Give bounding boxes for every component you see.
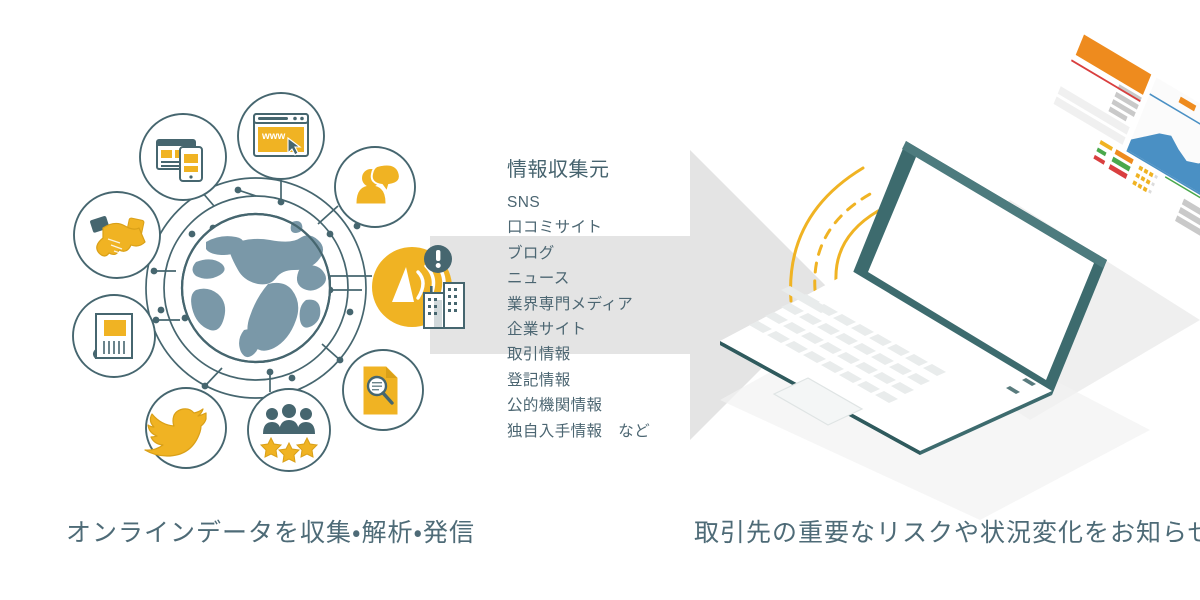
illustration-stage: .ln{stroke:#46666f;stroke-width:1.7;fill… — [0, 0, 1200, 600]
source-list-item-corporate-site: 企業サイト — [507, 317, 697, 342]
source-list-heading: 情報収集元 — [507, 156, 697, 184]
source-list-item-sns: SNS — [507, 190, 697, 215]
dashboard-screen — [1034, 28, 1200, 247]
source-list-item-industry-media: 業界専門メディア — [507, 292, 697, 317]
source-list-item-registry-info: 登記情報 — [507, 368, 697, 393]
source-list: 情報収集元 SNS 口コミサイト ブログ ニュース 業界専門メディア 企業サイト… — [507, 156, 697, 444]
source-list-item-proprietary-info: 独自入手情報 など — [507, 419, 697, 444]
source-list-item-transaction-info: 取引情報 — [507, 342, 697, 367]
caption-right: 取引先の重要なリスクや状況変化をお知らせ — [694, 513, 1200, 549]
source-list-item-review-site: 口コミサイト — [507, 215, 697, 240]
source-list-item-blog: ブログ — [507, 241, 697, 266]
source-list-item-public-agency-info: 公的機関情報 — [507, 393, 697, 418]
source-list-item-news: ニュース — [507, 266, 697, 291]
caption-left: オンラインデータを収集・解析・発信 — [66, 513, 475, 549]
